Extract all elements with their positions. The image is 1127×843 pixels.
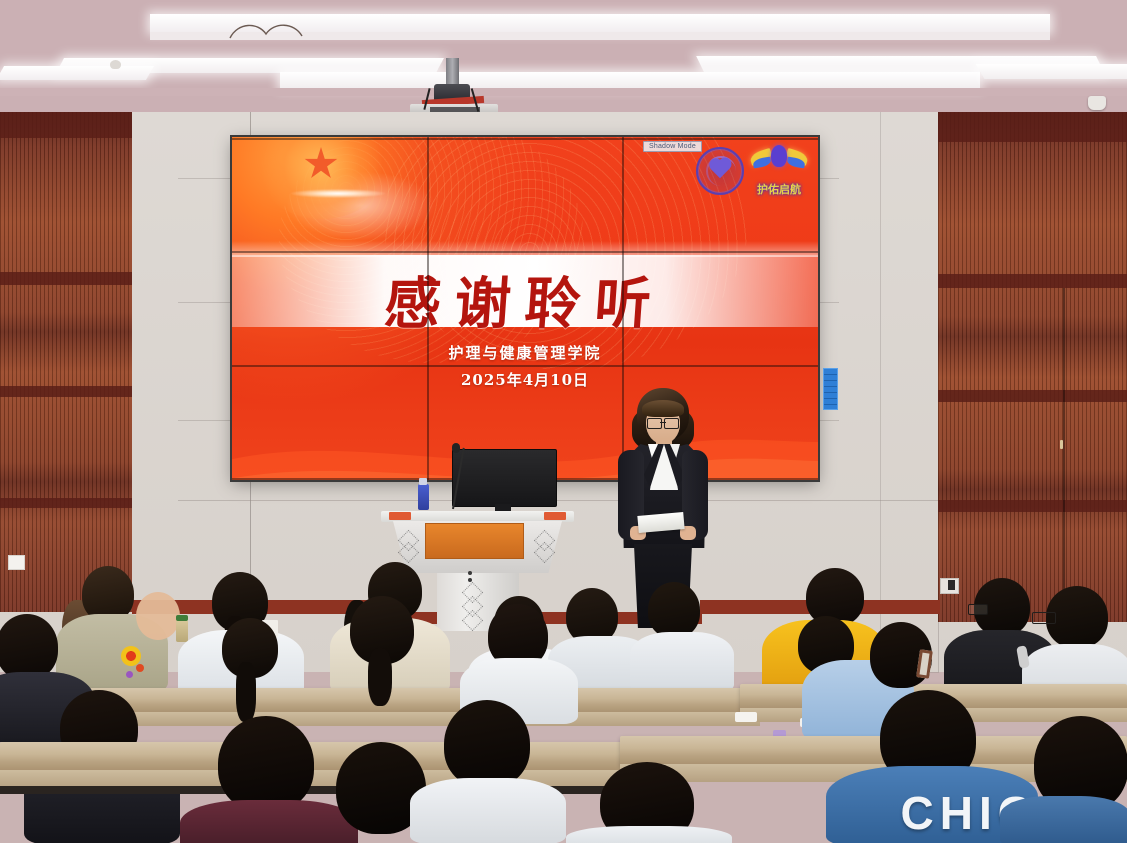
lens-flare [290,189,386,198]
wall-wood-right [938,112,1127,622]
student-head [0,614,58,680]
side-door[interactable] [1063,288,1065,618]
student-head [218,716,314,812]
podium-wood-panel [425,523,524,559]
glasses-icon [647,418,679,427]
wall-wood-left [0,112,132,612]
sunflower-graphic [121,646,141,666]
led-video-wall: 感谢聆听 护理与健康管理学院 2025年4月10日 护佑启航 Shadow Mo… [232,137,818,480]
glasses-icon [1032,612,1056,624]
led-subtitle: 护理与健康管理学院 [232,342,818,363]
drink-bottle-row1 [176,620,188,642]
student-denim-right [1000,796,1127,843]
student-foreground-white [566,826,732,843]
badge-label: 护佑启航 [750,181,808,197]
lecture-hall-photo: 感谢聆听 护理与健康管理学院 2025年4月10日 护佑启航 Shadow Mo… [0,0,1127,843]
ceiling [0,0,1127,118]
bottle-cap [419,478,427,485]
nursing-badge-icon: 护佑启航 [750,143,808,197]
student-white-shirt-e [630,632,734,692]
glasses-icon [968,604,988,615]
led-date: 2025年4月10日 [232,369,818,390]
ponytail [236,662,256,722]
podium-monitor [452,449,557,507]
student-head [648,582,700,638]
hair-claw-clip [916,649,933,679]
desk-row-2 [0,742,640,772]
presenter-fringe [642,400,684,417]
water-bottle [418,484,429,510]
shadow-mode-tag: Shadow Mode [643,141,702,152]
school-emblem-icon [696,147,744,195]
monitor-stand [495,504,511,511]
tissue-row1 [735,712,757,722]
ponytail [368,648,392,706]
microphone-icon [452,443,460,453]
wall-note-left [8,555,25,570]
student-hand-face [136,592,180,640]
student-white-foreground [410,778,566,843]
blue-wall-sign [823,368,838,410]
led-title: 感谢聆听 [232,259,818,340]
student-maroon-top [180,800,358,843]
student-head [444,700,530,788]
ceiling-cable [228,20,318,42]
ceiling-camera [1088,96,1106,110]
ceiling-camera-small [110,60,121,69]
